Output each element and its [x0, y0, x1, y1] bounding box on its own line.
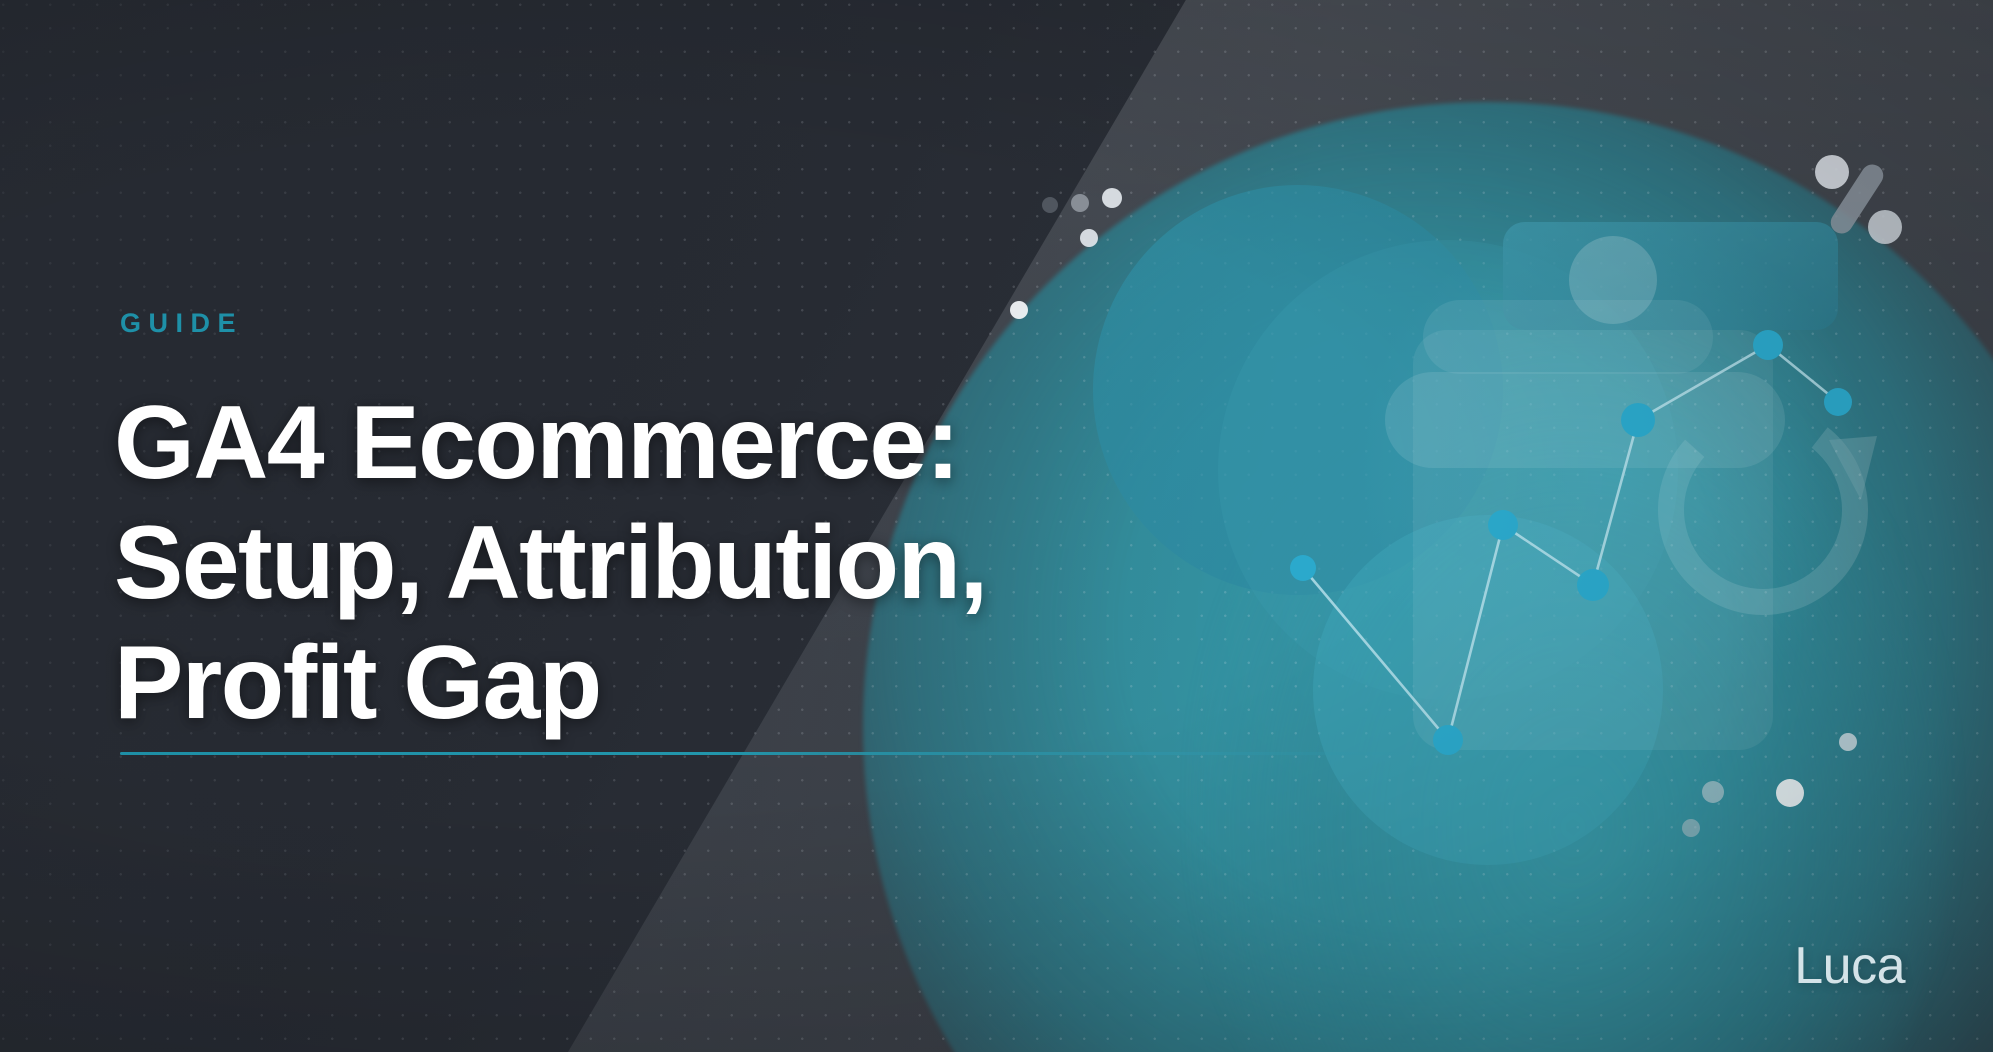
network-node: [1433, 725, 1463, 755]
page-title: GA4 Ecommerce: Setup, Attribution, Profi…: [114, 383, 987, 743]
percent-icon-dot-bottom: [1868, 210, 1902, 244]
network-node: [1290, 555, 1316, 581]
network-node: [1488, 510, 1518, 540]
network-node: [1577, 569, 1609, 601]
percent-icon-dot-top: [1815, 155, 1849, 189]
network-node: [1621, 403, 1655, 437]
title-divider: [120, 752, 1438, 755]
network-node: [1753, 330, 1783, 360]
network-node: [1824, 388, 1852, 416]
cover-canvas: GUIDE GA4 Ecommerce: Setup, Attribution,…: [0, 0, 1993, 1052]
brand-logo: Luca: [1794, 940, 1905, 992]
cover-content: GUIDE GA4 Ecommerce: Setup, Attribution,…: [120, 0, 1180, 1052]
eyebrow-label: GUIDE: [120, 310, 243, 337]
